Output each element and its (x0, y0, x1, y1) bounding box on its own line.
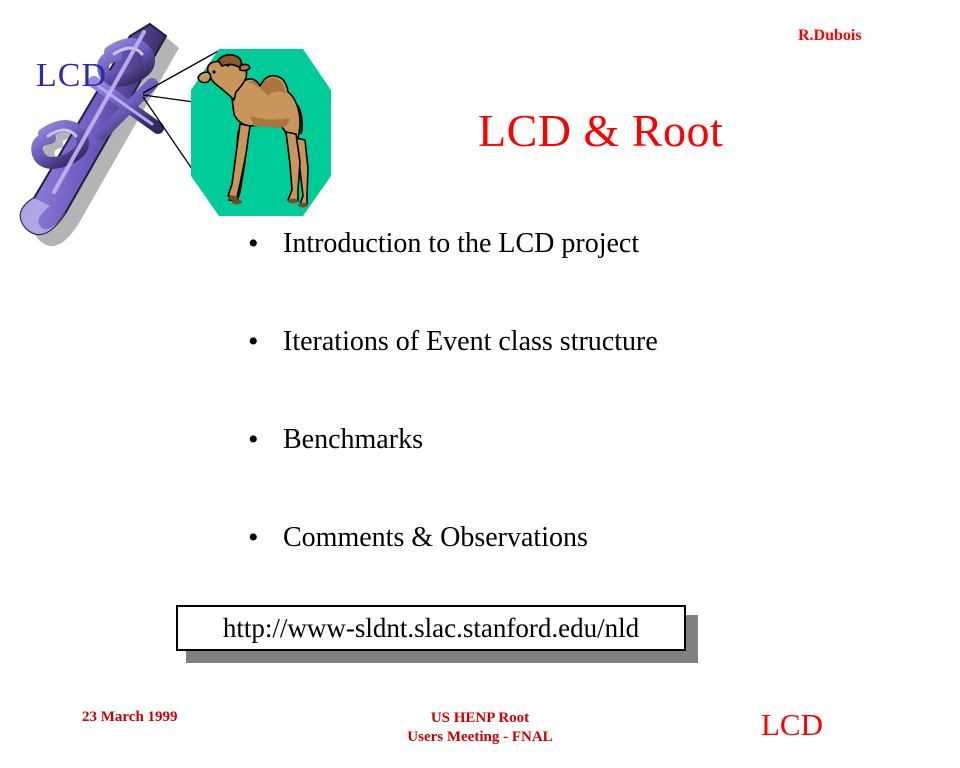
url-text[interactable]: http://www-sldnt.slac.stanford.edu/nld (223, 613, 639, 644)
bullet-text: Iterations of Event class structure (283, 326, 658, 358)
list-item: • Iterations of Event class structure (248, 326, 888, 424)
footer-event-line1: US HENP Root (350, 709, 610, 728)
footer-event-line2: Users Meeting - FNAL (350, 728, 610, 747)
bullet-text: Benchmarks (283, 424, 423, 456)
list-item: • Benchmarks (248, 424, 888, 522)
footer-corner-label: LCD (761, 707, 823, 743)
slide-canvas: R.Dubois LCD & Root (0, 0, 960, 768)
lcd-logo-label: LCD (36, 57, 107, 95)
bullet-marker: • (248, 424, 283, 456)
bullet-text: Comments & Observations (283, 522, 588, 554)
bullet-list: • Introduction to the LCD project • Iter… (248, 228, 888, 620)
footer-event: US HENP Root Users Meeting - FNAL (350, 709, 610, 747)
lcd-clip-logo-icon (10, 10, 200, 260)
bullet-marker: • (248, 522, 283, 554)
url-callout[interactable]: http://www-sldnt.slac.stanford.edu/nld (176, 605, 698, 663)
bullet-marker: • (248, 228, 283, 260)
url-box[interactable]: http://www-sldnt.slac.stanford.edu/nld (176, 605, 686, 651)
camel-octagon-icon (188, 46, 334, 220)
slide-title: LCD & Root (478, 104, 723, 157)
author-credit: R.Dubois (798, 27, 862, 45)
bullet-marker: • (248, 326, 283, 358)
footer-date: 23 March 1999 (82, 709, 178, 726)
bullet-text: Introduction to the LCD project (283, 228, 639, 260)
list-item: • Introduction to the LCD project (248, 228, 888, 326)
